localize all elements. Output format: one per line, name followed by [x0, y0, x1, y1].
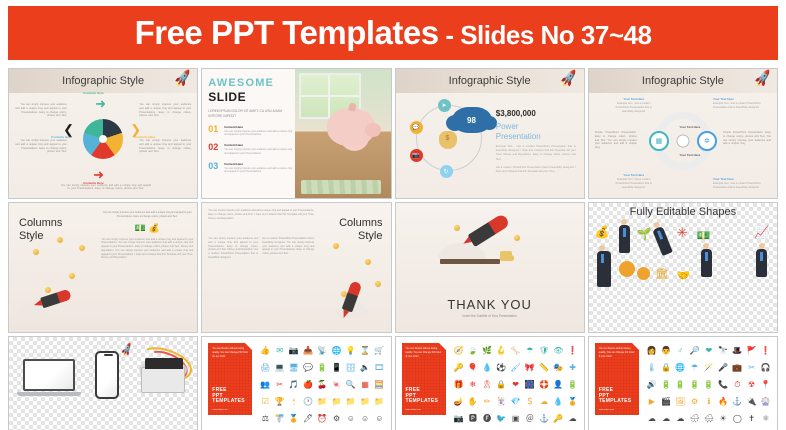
banner-title-main: Free PPT Templates [135, 14, 439, 51]
flickr-icon: ▣ [512, 415, 520, 423]
card-top-text: You can Resize without losing quality. Y… [406, 347, 442, 359]
lightbulb-icon: 💡 [346, 347, 356, 355]
slide-38-heading-bottom: SLIDE [208, 90, 292, 104]
donut-ring: ▦ ✲ Your Text Here Your Text Here [654, 112, 712, 170]
growth-arrow-icon: 📈 [754, 225, 769, 239]
camera-icon: 📷 [410, 149, 423, 162]
folder-icon: 📁 [360, 398, 370, 406]
standing-man-icon [756, 249, 767, 277]
laptop-base-shape [17, 392, 81, 396]
printer-icon: 🖨 [260, 364, 270, 372]
coin-shape [365, 259, 371, 265]
dollar-icon: ＄ [526, 398, 534, 406]
rocket-man-icon [652, 226, 673, 256]
quadrant-top-right: Your Text Here Example Text : Get a mode… [713, 97, 769, 110]
inbox-icon: 📥 [303, 347, 313, 355]
card-brand: FREE PPT TEMPLATES [599, 388, 632, 405]
icon-set-a-grid: 👍 ✉ 📷 📥 📡 🌐 💡 ⌛ 🛒 🖨 💻 🖥 💬 🔋 📱 🗄 🔈 🎞 👥 [258, 343, 386, 427]
superhero-icon [597, 251, 611, 287]
slide-thumbnail-48[interactable]: Fully Editable Icon Sets: C You can Resi… [588, 336, 778, 430]
umbrella-icon: ☂ [691, 364, 698, 372]
gold-bars-shape [500, 251, 512, 261]
clock-icon: 🕐 [303, 398, 313, 406]
laptop-icon: 💻 [275, 364, 285, 372]
battery-icon: 🔋 [568, 381, 578, 389]
woman-icon: 👩 [647, 347, 657, 355]
quadrant-body: Example Text : Get a modern PowerPoint P… [713, 182, 769, 190]
droplet-icon: 💧 [482, 364, 492, 372]
brand-line-3: TEMPLATES [599, 399, 632, 405]
scissors-icon: ✂ [276, 381, 283, 389]
slide-39-body-2: Get a modern PowerPoint Presentation tha… [496, 166, 576, 174]
slide-38-heading-top: AWESOME [208, 77, 292, 89]
thermometer-icon: 🌡 [647, 364, 657, 372]
slide-39-header: Infographic Style [396, 69, 584, 93]
money-bag-icon [439, 131, 457, 149]
coin-shape [45, 287, 51, 293]
exclamation-icon: ❗ [761, 347, 771, 355]
coin-shape [375, 281, 381, 287]
globe-icon: 🌐 [675, 364, 685, 372]
wand-icon: 🪄 [704, 364, 714, 372]
hourglass-icon: ⌛ [360, 347, 370, 355]
wheel-label-1: Contents Here [135, 135, 156, 139]
server-icon: 🗄 [346, 364, 356, 372]
film-icon: 🎞 [374, 364, 384, 372]
ribbon-icon: 🎀 [525, 364, 535, 372]
leaf-icon: 🍃 [468, 347, 478, 355]
image-icon: 🖼 [675, 398, 685, 406]
slide-thumbnail-45[interactable]: Fully Editable Shapes 🚀 [8, 336, 198, 430]
plant-in-hand-icon: ✳ [677, 225, 688, 241]
fire-icon: 🔥 [718, 398, 728, 406]
icon-set-b-grid: 🧭 🍃 🌿 🪝 🦴 ☂ 🛡 👁 ❗ 🔑 🎈 💧 ⚽ 🖌 🎀 📏 🎭 ✚ 🎁 [452, 343, 580, 427]
slide-44-title: Fully Editable Shapes [589, 206, 777, 218]
medical-cross-icon: ✚ [569, 364, 576, 372]
gear-icon: ⚙ [691, 398, 698, 406]
anchor-icon: ⚓ [539, 415, 549, 423]
slide-40-body: ▦ ✲ Your Text Here Your Text Here Your T… [593, 93, 773, 194]
man-icon: 👨 [661, 347, 671, 355]
slide-thumbnail-40[interactable]: Infographic Style 🚀 ▦ ✲ Your Text Here Y… [588, 68, 778, 199]
brand-line-3: TEMPLATES [212, 399, 245, 405]
item-number-02: 02 [208, 143, 220, 152]
quadrant-heading: Your Text Here [713, 97, 769, 101]
rocket-icon: 🚀 [559, 70, 579, 87]
slide-40-header: Infographic Style [589, 69, 777, 93]
instagram-icon: 📷 [454, 415, 464, 423]
compass-icon: 🧭 [454, 347, 464, 355]
medal-icon: 🏅 [568, 398, 578, 406]
money-tree-icon [619, 261, 635, 277]
chat-icon: 💬 [410, 121, 423, 134]
cross-icon: ✝ [748, 415, 755, 423]
banner-title-sub: - Slides No 37~48 [439, 20, 652, 50]
wheel-label-2: Contents Here [83, 91, 104, 95]
rocket-icon: 🚀 [173, 70, 193, 87]
card-site: www.adspr.com [212, 409, 227, 411]
banknotes-shape [301, 180, 381, 194]
cloud-icon: ☁ [648, 415, 656, 423]
center-label-bottom: Your Text Here [677, 153, 703, 157]
radiation-icon: ☢ [748, 381, 755, 389]
item-number-01: 01 [208, 125, 220, 134]
leaf-icon: 🌿 [482, 347, 492, 355]
battery-icon: 🔋 [317, 364, 327, 372]
speaker-icon: 🔈 [360, 364, 370, 372]
slide-40-side-right: Simple PowerPoint Presentation. Easy to … [723, 131, 771, 146]
slide-thumbnail-42[interactable]: Columns Style You can simply impress you… [201, 202, 391, 333]
magnifier-icon: 🔎 [690, 347, 700, 355]
search-icon: 🔍 [346, 381, 356, 389]
slide-38-item-2: 02 Content Here You can simply impress y… [208, 143, 292, 156]
people-icon: 👥 [260, 381, 270, 389]
center-knob [676, 135, 689, 148]
ppt-template-gallery-page: Free PPT Templates - Slides No 37~48 Inf… [0, 0, 786, 430]
brush-icon: 🖌 [511, 364, 521, 372]
item-heading-01: Content Here [224, 125, 292, 129]
slide-37-blurb-1: You can simply impress your audience and… [15, 103, 67, 118]
card-top-text: You can Resize without losing quality. Y… [599, 347, 635, 359]
envelope-icon: ✉ [276, 347, 283, 355]
cards-icon: 🃏 [496, 398, 506, 406]
signpost-icon: 🚏 [275, 415, 285, 423]
item-heading-03: Content Here [224, 162, 292, 166]
center-label-top: Your Text Here [677, 125, 703, 129]
coin-shape [333, 243, 339, 249]
gift-icon: 🎁 [454, 381, 464, 389]
lamp-icon: 🪔 [454, 398, 464, 406]
wheel-label-0: Contents Here [51, 135, 72, 139]
cheering-man-icon [701, 249, 712, 277]
brand-line-3: TEMPLATES [406, 399, 439, 405]
slide-37-title: Infographic Style [62, 75, 144, 87]
page-banner: Free PPT Templates - Slides No 37~48 [8, 6, 778, 60]
cursor-icon: ➤ [438, 99, 451, 112]
item-body-01: You can simply impress your audience and… [224, 130, 292, 138]
apple-icon: 🍎 [303, 381, 313, 389]
cloud-icon: ☁ [676, 415, 684, 423]
slide-grid: Infographic Style 🚀 You can simply impre… [8, 68, 778, 426]
feed-icon: 📡 [317, 347, 327, 355]
water-drop-icon: 💧 [553, 398, 563, 406]
coin-shape [79, 245, 85, 251]
hand-icon: ✋ [468, 398, 478, 406]
diamond-icon: 💎 [511, 398, 521, 406]
cherry-icon: 🍒 [317, 381, 327, 389]
award-icon: 🏅 [289, 415, 299, 423]
arc-bottom-icon: ➜ [93, 168, 104, 181]
hook-icon: 🪝 [496, 347, 506, 355]
slide-45-devices: 🚀 [9, 337, 197, 430]
slide-38-subtitle: LOREM IPSUM DOLOR SIT AMET, CU USU AGAM … [208, 109, 292, 119]
coin-shape [33, 249, 39, 255]
slide-thumbnail-43[interactable]: THANK YOU Insert the Subtitle of Your Pr… [395, 202, 585, 333]
pencil-icon: ✏ [484, 398, 491, 406]
coin-shape [57, 237, 63, 243]
cloud-upload-icon: ☁ [569, 415, 577, 423]
slide-43-text: THANK YOU Insert the Subtitle of Your Pr… [396, 297, 584, 318]
slide-37-blurb-5: You can simply impress your audience and… [60, 184, 152, 192]
facebook-icon: 🅕 [483, 415, 491, 423]
slide-39-subtitle: Power Presentation [496, 122, 576, 141]
subtitle-line-2: Presentation [496, 132, 576, 142]
binoculars-icon: 🔭 [718, 347, 728, 355]
slide-thumbnail-46[interactable]: Fully Editable Icon Sets: A You can Resi… [201, 336, 391, 430]
slide-thumbnail-39[interactable]: Infographic Style 🚀 💬 📷 ➤ ↻ 98 $3,800,00… [395, 68, 585, 199]
atom-icon: ⚛ [762, 415, 769, 423]
free-ppt-templates-card: You can Resize without losing quality. Y… [208, 343, 252, 415]
bone-icon: 🦴 [511, 347, 521, 355]
person-icon: 👤 [553, 381, 563, 389]
coin-shape [69, 273, 75, 279]
slide-41-body: You can simply impress your audience and… [101, 238, 193, 261]
businessman-icon [619, 225, 630, 253]
wheel-label-3: Contents Here [83, 181, 104, 185]
ribbon-bow-icon: 🎗 [482, 381, 492, 389]
item-body-02: You can simply impress your audience and… [224, 148, 292, 156]
battery-icon: 🔋 [675, 381, 685, 389]
chat-icon: 💬 [303, 364, 313, 372]
rocket-icon: 🚀 [752, 70, 772, 87]
candle-icon: 🕯 [293, 398, 295, 406]
slide-37-wheel-diagram: ❮ ❯ ➜ ➜ Contents Here Contents Here Cont… [71, 107, 135, 171]
globe-icon: 🌐 [332, 347, 342, 355]
calculator-icon: 🧮 [374, 381, 384, 389]
snow-cloud-icon: 🌨 [704, 415, 714, 423]
thank-you-subtitle: Insert the Subtitle of Your Presentation [396, 314, 584, 318]
money-bag-icon: 💰 [149, 223, 160, 234]
rocket-shape [467, 213, 510, 247]
scissors-icon: ✂ [748, 364, 755, 372]
mobile-icon: 📱 [332, 364, 342, 372]
pen-icon: 🖊 [303, 415, 313, 423]
launch-pad-shape [440, 259, 500, 264]
ruler-icon: 📏 [539, 364, 549, 372]
thumbs-up-icon: 👍 [260, 347, 270, 355]
banner-title: Free PPT Templates - Slides No 37~48 [135, 14, 652, 52]
quadrant-bottom-left: Your Text Here Example Text : Get a mode… [611, 173, 657, 190]
card-site: www.adspr.com [406, 409, 421, 411]
body-right: Get a modern PowerPoint Presentation tha… [262, 237, 314, 256]
piggy-bank-shape [327, 108, 375, 146]
slide-37-header: Infographic Style [9, 69, 197, 93]
rain-cloud-icon: 🌧 [690, 415, 700, 423]
card-brand: FREE PPT TEMPLATES [406, 388, 439, 405]
firework-icon: 🎆 [525, 381, 535, 389]
mask-icon: 🎭 [553, 364, 563, 372]
flag-icon: 🚩 [747, 347, 757, 355]
free-ppt-templates-card: You can Resize without losing quality. Y… [595, 343, 639, 415]
card-brand: FREE PPT TEMPLATES [212, 388, 245, 405]
cash-icons: 💵 💰 [101, 223, 193, 234]
at-icon: ＠ [526, 415, 534, 423]
volume-icon: 🔊 [647, 381, 657, 389]
anchor-icon: ⚓ [732, 398, 742, 406]
slide-37-blurb-2: You can simply impress your audience and… [139, 103, 191, 118]
slide-37-blurb-4: You can simply impress your audience and… [139, 139, 191, 154]
slide-thumbnail-37[interactable]: Infographic Style 🚀 You can simply impre… [8, 68, 198, 199]
battery-icon: 🔋 [690, 381, 700, 389]
smartphone-icon [95, 351, 119, 399]
battery-icon: 🔋 [661, 381, 671, 389]
bank-icon: 🏛 [655, 267, 669, 280]
balloon-icon: 🎈 [468, 364, 478, 372]
node-right: ✲ [697, 131, 717, 151]
card-top-text: You can Resize without losing quality. Y… [212, 347, 248, 359]
cloud-icon: ☁ [662, 415, 670, 423]
umbrella-icon: ☂ [526, 347, 533, 355]
twitter-icon: 🐦 [496, 415, 506, 423]
body-left: You can simply impress your audience and… [208, 237, 258, 260]
slide-42-lead: You can simply impress your audience and… [208, 209, 314, 220]
slide-41-text: You can simply impress your audience and… [101, 211, 193, 260]
shield-icon: 🛡 [539, 347, 549, 355]
slide-thumbnail-41[interactable]: Columns Style You can simply impress you… [8, 202, 198, 333]
free-ppt-templates-card: You can Resize without losing quality. Y… [402, 343, 446, 415]
slide-39-text-block: $3,800,000 Power Presentation Example Te… [496, 109, 576, 174]
slide-37-blurb-3: You can simply impress your audience and… [15, 139, 67, 154]
briefcase-icon: 💼 [732, 364, 742, 372]
windmill-icon: 🎡 [761, 398, 771, 406]
quadrant-heading: Your Text Here [713, 177, 769, 181]
slide-38-content: AWESOME SLIDE LOREM IPSUM DOLOR SIT AMET… [208, 77, 292, 174]
slide-thumbnail-44[interactable]: Fully Editable Shapes 💰 🌱 ✳ 💵 📈 🏛 🤝 [588, 202, 778, 333]
circle-icon: ◯ [733, 415, 742, 423]
arc-top-icon: ➜ [95, 97, 106, 110]
slide-40-title: Infographic Style [642, 75, 724, 87]
item-heading-02: Content Here [224, 143, 292, 147]
slide-39-title: Infographic Style [449, 75, 531, 87]
rocket-icon: 🚀 [119, 343, 134, 358]
heart-icon: ❤ [706, 347, 713, 355]
lock-icon: 🔒 [661, 364, 671, 372]
money-bag-icon: 💰 [595, 225, 610, 239]
battery-icon: 🔋 [704, 381, 714, 389]
eye-icon: 👁 [553, 347, 563, 355]
checklist-icon: ☑ [262, 398, 269, 406]
quadrant-top-left: Your Text Here Example Text : Get a mode… [611, 97, 657, 114]
piggy-bank-photo [295, 69, 391, 198]
location-pin-icon: 📍 [761, 381, 771, 389]
folder-icon: 📁 [374, 398, 384, 406]
clock-face-icon: ⏰ [317, 415, 327, 423]
amount-value: $3,800,000 [496, 109, 576, 118]
info-icon: ℹ [707, 398, 710, 406]
quadrant-body: Example Text : Get a modern PowerPoint P… [611, 102, 657, 114]
lead-text: You can simply impress your audience and… [208, 209, 314, 220]
cash-icon: 💵 [135, 223, 146, 234]
refresh-icon: ↻ [440, 165, 453, 178]
folder-icon: 📁 [317, 398, 327, 406]
stopwatch-icon: ⏱ [734, 381, 740, 389]
life-ring-icon: 🛟 [539, 381, 549, 389]
coin-shape [514, 235, 520, 241]
key-icon: 🔑 [454, 364, 464, 372]
money-tree-icon [637, 267, 650, 280]
rocket-coins-photo [202, 203, 390, 332]
smiley-icon: ☺ [361, 415, 369, 423]
slide-38-item-3: 03 Content Here You can simply impress y… [208, 162, 292, 175]
weight-icon: ⚖ [262, 415, 269, 423]
exclamation-icon: ❗ [568, 347, 578, 355]
slide-42-column-right: Get a modern PowerPoint Presentation tha… [262, 237, 314, 256]
icon-set-c-grid: 👩 👨 ♂ 🔎 ❤ 🔭 🎩 🚩 ❗ 🌡 🔒 🌐 ☂ 🪄 🎤 💼 ✂ 🎧 🔊 [645, 343, 773, 427]
slide-37-body: You can simply impress your audience and… [13, 93, 193, 194]
microphone-icon: 🎤 [718, 364, 728, 372]
trophy-cup-icon: 🏆 [275, 398, 285, 406]
heart-icon: ❤ [512, 381, 519, 389]
handshake-icon: 🤝 [677, 269, 691, 282]
grid-icon: ▦ [361, 381, 369, 389]
monitor-icon: 🖥 [289, 364, 299, 372]
phone-icon: 📞 [718, 381, 728, 389]
quadrant-heading: Your Text Here [611, 97, 657, 101]
smiley-icon: ☺ [375, 415, 383, 423]
gear-icon: ⚙ [333, 415, 340, 423]
video-icon: 🎬 [661, 398, 671, 406]
thank-you-title: THANK YOU [396, 297, 584, 312]
quadrant-heading: Your Text Here [611, 173, 657, 177]
slide-thumbnail-47[interactable]: Fully Editable Icon Sets: B You can Resi… [395, 336, 585, 430]
lock-icon: 🔒 [496, 381, 506, 389]
candy-icon: 🍬 [332, 381, 342, 389]
sun-icon: ☀ [720, 415, 727, 423]
laptop-icon [23, 359, 75, 391]
percent-cloud-badge: 98 [452, 107, 492, 133]
quadrant-body: Example Text : Get a modern PowerPoint P… [611, 178, 657, 190]
camera-icon: 📷 [289, 347, 299, 355]
male-symbol-icon: ♂ [677, 347, 683, 355]
headphones-icon: 🎧 [761, 364, 771, 372]
wheel-chart [83, 119, 123, 159]
coin-shape [341, 291, 347, 297]
slide-44-shapes: 💰 🌱 ✳ 💵 📈 🏛 🤝 [593, 223, 773, 328]
music-note-icon: 🎵 [289, 381, 299, 389]
smiley-icon: ☺ [347, 415, 355, 423]
quadrant-body: Example Text : Get a modern PowerPoint P… [713, 102, 769, 110]
cash-icon: 💵 [697, 229, 711, 242]
percent-value: 98 [467, 116, 476, 125]
shopping-cart-icon: 🛒 [374, 347, 384, 355]
cloud-icon: ☁ [540, 398, 548, 406]
slide-39-body: 💬 📷 ➤ ↻ 98 $3,800,000 Power Presentation… [400, 93, 580, 194]
slide-40-side-left: Simple PowerPoint Presentation. Easy to … [595, 131, 637, 150]
subtitle-line-1: Power [496, 122, 576, 132]
play-icon: ▶ [649, 398, 655, 406]
plug-icon: 🔌 [747, 398, 757, 406]
folder-icon: 📁 [332, 398, 342, 406]
slide-41-lead: You can simply impress your audience and… [101, 211, 193, 219]
slide-38-item-1: 01 Content Here You can simply impress y… [208, 125, 292, 138]
card-site: www.adspr.com [599, 409, 614, 411]
hat-icon: 🎩 [732, 347, 742, 355]
snowflake-icon: ❄ [470, 381, 477, 389]
slide-thumbnail-38[interactable]: AWESOME SLIDE LOREM IPSUM DOLOR SIT AMET… [201, 68, 391, 199]
quadrant-bottom-right: Your Text Here Example Text : Get a mode… [713, 177, 769, 190]
node-left: ▦ [649, 131, 669, 151]
pinterest-icon: 🅿 [469, 415, 477, 423]
open-laptop-cloud-icon [141, 367, 185, 393]
ball-icon: ⚽ [496, 364, 506, 372]
item-body-03: You can simply impress your audience and… [224, 167, 292, 175]
folder-icon: 📁 [346, 398, 356, 406]
item-number-03: 03 [208, 162, 220, 171]
coin-shape [454, 225, 460, 231]
slide-42-column-left: You can simply impress your audience and… [208, 237, 258, 260]
watering-plant-icon: 🌱 [637, 227, 652, 241]
key-icon: 🔑 [553, 415, 563, 423]
